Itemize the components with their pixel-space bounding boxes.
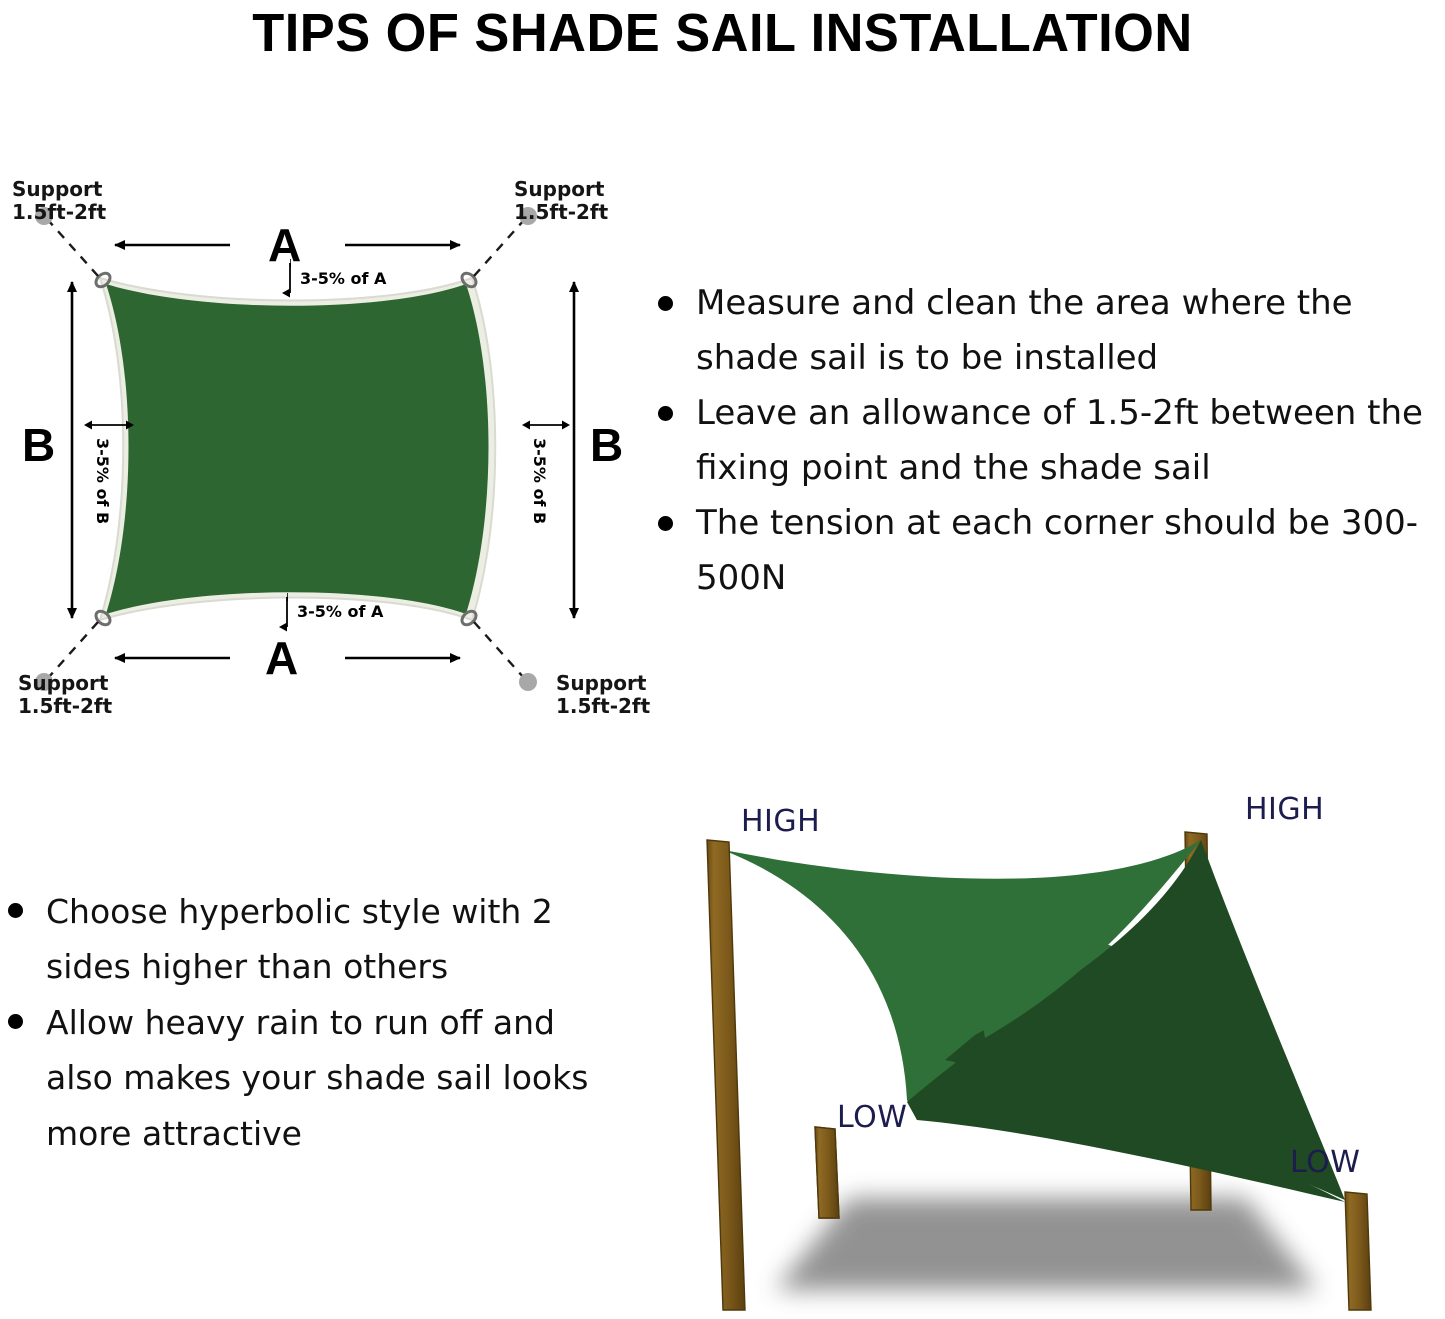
shade-sail-dimension-diagram: Support 1.5ft-2ft Support 1.5ft-2ft Supp… bbox=[0, 150, 660, 740]
curvature-label-right: 3-5% of B bbox=[530, 438, 549, 524]
support-label-line2: 1.5ft-2ft bbox=[556, 695, 650, 718]
list-item-text: Leave an allowance of 1.5-2ft between th… bbox=[696, 393, 1423, 488]
bullet-dot-icon bbox=[658, 296, 673, 311]
dimension-letter-a-top: A bbox=[268, 222, 301, 268]
dimension-letter-b-left: B bbox=[22, 422, 55, 468]
hyperbolic-sail-svg bbox=[645, 770, 1445, 1319]
curvature-label-bottom: 3-5% of A bbox=[297, 602, 383, 621]
post-high-left bbox=[707, 840, 745, 1310]
tips-list-left: Choose hyperbolic style with 2 sides hig… bbox=[0, 884, 620, 1161]
support-label-line2: 1.5ft-2ft bbox=[12, 201, 106, 224]
list-item: Choose hyperbolic style with 2 sides hig… bbox=[0, 884, 620, 995]
bullet-dot-icon bbox=[658, 516, 673, 531]
shade-sail-shape bbox=[106, 284, 489, 614]
list-item: Allow heavy rain to run off and also mak… bbox=[0, 995, 620, 1161]
support-label-top-right: Support 1.5ft-2ft bbox=[514, 178, 608, 224]
support-label-bottom-left: Support 1.5ft-2ft bbox=[18, 672, 112, 718]
tips-list-right: Measure and clean the area where the sha… bbox=[650, 276, 1445, 606]
support-label-line1: Support bbox=[514, 178, 608, 201]
list-item-text: Choose hyperbolic style with 2 sides hig… bbox=[46, 892, 553, 986]
support-label-line1: Support bbox=[556, 672, 650, 695]
support-label-line1: Support bbox=[12, 178, 106, 201]
curvature-label-top: 3-5% of A bbox=[300, 269, 386, 288]
ground-shadow bbox=[775, 1198, 1317, 1290]
bullet-dot-icon bbox=[658, 406, 673, 421]
list-item: Leave an allowance of 1.5-2ft between th… bbox=[650, 386, 1445, 496]
dimension-letter-a-bottom: A bbox=[265, 635, 298, 681]
page-title: TIPS OF SHADE SAIL INSTALLATION bbox=[22, 2, 1424, 64]
label-high-right: HIGH bbox=[1245, 792, 1324, 827]
list-item-text: Allow heavy rain to run off and also mak… bbox=[46, 1003, 588, 1153]
support-label-line2: 1.5ft-2ft bbox=[18, 695, 112, 718]
curvature-label-left: 3-5% of B bbox=[93, 438, 112, 524]
bullet-dot-icon bbox=[8, 903, 23, 918]
list-item-text: The tension at each corner should be 300… bbox=[696, 503, 1418, 598]
list-item-text: Measure and clean the area where the sha… bbox=[696, 283, 1353, 378]
dimension-letter-b-right: B bbox=[590, 422, 623, 468]
list-item: The tension at each corner should be 300… bbox=[650, 496, 1445, 606]
list-item: Measure and clean the area where the sha… bbox=[650, 276, 1445, 386]
support-label-line2: 1.5ft-2ft bbox=[514, 201, 608, 224]
post-low-right bbox=[1345, 1192, 1371, 1310]
bullet-dot-icon bbox=[8, 1014, 23, 1029]
label-high-left: HIGH bbox=[741, 804, 820, 839]
support-label-top-left: Support 1.5ft-2ft bbox=[12, 178, 106, 224]
post-low-left-front bbox=[815, 1127, 839, 1218]
label-low-left: LOW bbox=[837, 1100, 907, 1135]
support-label-line1: Support bbox=[18, 672, 112, 695]
support-label-bottom-right: Support 1.5ft-2ft bbox=[556, 672, 650, 718]
support-dot-bottom-right bbox=[519, 673, 537, 691]
label-low-right: LOW bbox=[1290, 1145, 1360, 1180]
hyperbolic-shade-sail-illustration: HIGH HIGH LOW LOW bbox=[645, 770, 1445, 1319]
